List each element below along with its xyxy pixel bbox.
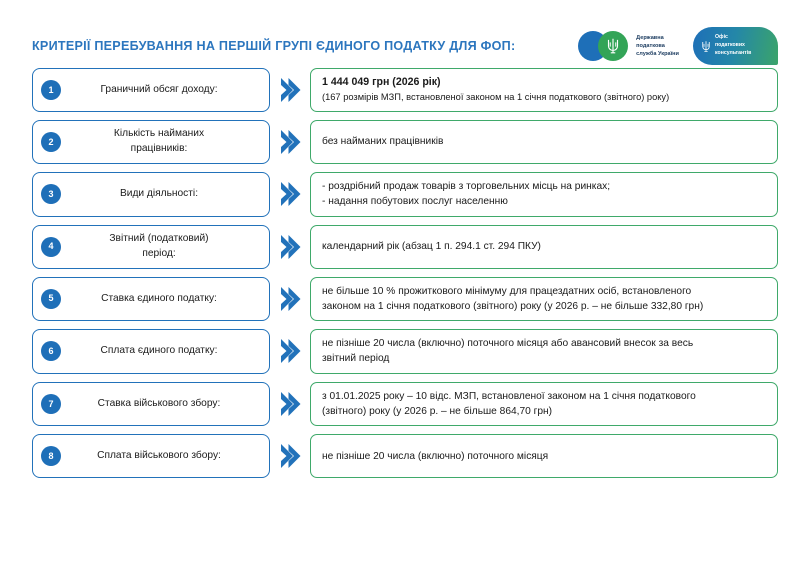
chevron-right-icon <box>279 286 301 312</box>
chevron-right-icon <box>279 234 301 260</box>
arrow-connector <box>270 434 310 478</box>
criterion-box-5[interactable]: 5Ставка єдиного податку: <box>32 277 270 322</box>
criteria-row: 4Звітний (податковий) період:календарний… <box>32 225 778 269</box>
arrow-connector <box>270 120 310 164</box>
chevron-right-icon <box>279 77 301 103</box>
criteria-row: 1Граничний обсяг доходу:1 444 049 грн (2… <box>32 68 778 112</box>
arrow-connector <box>270 172 310 217</box>
arrow-connector <box>270 382 310 427</box>
criterion-number-badge: 2 <box>41 132 61 152</box>
value-box-2[interactable]: без найманих працівників <box>310 120 778 164</box>
trident-icon <box>701 40 711 53</box>
criterion-label: Види діяльності: <box>61 187 259 202</box>
chevron-right-icon <box>279 443 301 469</box>
criterion-number-badge: 6 <box>41 341 61 361</box>
header: КРИТЕРІЇ ПЕРЕБУВАННЯ НА ПЕРШІЙ ГРУПІ ЄДИ… <box>0 0 800 66</box>
criterion-label: Граничний обсяг доходу: <box>61 83 259 98</box>
criterion-label: Кількість найманих працівників: <box>61 127 259 157</box>
arrow-connector <box>270 329 310 374</box>
criteria-row: 8Сплата військового збору:не пізніше 20 … <box>32 434 778 478</box>
tax-consultants-office-logo: Офіс податкових консультантів <box>693 27 778 65</box>
criterion-label: Звітний (податковий) період: <box>61 232 259 262</box>
value-box-3[interactable]: - роздрібний продаж товарів з торговельн… <box>310 172 778 217</box>
criterion-number-badge: 7 <box>41 394 61 414</box>
logo-group: Державна податкова служба України Офіс п… <box>578 27 778 65</box>
criterion-box-7[interactable]: 7Ставка військового збору: <box>32 382 270 427</box>
criterion-number-badge: 3 <box>41 184 61 204</box>
chevron-right-icon <box>279 129 301 155</box>
criterion-label: Ставка військового збору: <box>61 397 259 412</box>
value-line: - надання побутових послуг населенню <box>322 194 766 209</box>
criteria-row: 7Ставка військового збору:з 01.01.2025 р… <box>32 382 778 427</box>
infographic-page: КРИТЕРІЇ ПЕРЕБУВАННЯ НА ПЕРШІЙ ГРУПІ ЄДИ… <box>0 0 800 565</box>
criterion-number-badge: 8 <box>41 446 61 466</box>
value-box-7[interactable]: з 01.01.2025 року – 10 відс. МЗП, встано… <box>310 382 778 427</box>
value-line: звітний період <box>322 351 766 366</box>
criterion-box-1[interactable]: 1Граничний обсяг доходу: <box>32 68 270 112</box>
arrow-connector <box>270 277 310 322</box>
arrow-connector <box>270 225 310 269</box>
value-line: календарний рік (абзац 1 п. 294.1 ст. 29… <box>322 239 766 254</box>
state-tax-service-logo: Державна податкова служба України <box>578 31 679 61</box>
criterion-number-badge: 1 <box>41 80 61 100</box>
criterion-box-6[interactable]: 6Сплата єдиного податку: <box>32 329 270 374</box>
logo-circles <box>578 31 630 61</box>
value-line: - роздрібний продаж товарів з торговельн… <box>322 179 766 194</box>
value-line: без найманих працівників <box>322 134 766 149</box>
chevron-right-icon <box>279 391 301 417</box>
criterion-label: Сплата військового збору: <box>61 449 259 464</box>
chevron-right-icon <box>279 338 301 364</box>
criteria-row: 6Сплата єдиного податку:не пізніше 20 чи… <box>32 329 778 374</box>
value-box-5[interactable]: не більше 10 % прожиткового мінімуму для… <box>310 277 778 322</box>
chevron-right-icon <box>279 181 301 207</box>
criterion-box-4[interactable]: 4Звітний (податковий) період: <box>32 225 270 269</box>
criterion-label: Ставка єдиного податку: <box>61 292 259 307</box>
criterion-label: Сплата єдиного податку: <box>61 344 259 359</box>
trident-icon <box>604 37 622 55</box>
criteria-list: 1Граничний обсяг доходу:1 444 049 грн (2… <box>0 66 800 478</box>
value-box-4[interactable]: календарний рік (абзац 1 п. 294.1 ст. 29… <box>310 225 778 269</box>
state-tax-service-logo-text: Державна податкова служба України <box>636 34 679 58</box>
criterion-number-badge: 4 <box>41 237 61 257</box>
criteria-row: 5Ставка єдиного податку:не більше 10 % п… <box>32 277 778 322</box>
value-line: з 01.01.2025 року – 10 відс. МЗП, встано… <box>322 389 766 404</box>
page-title: КРИТЕРІЇ ПЕРЕБУВАННЯ НА ПЕРШІЙ ГРУПІ ЄДИ… <box>32 39 515 53</box>
criteria-row: 3Види діяльності:- роздрібний продаж тов… <box>32 172 778 217</box>
value-box-8[interactable]: не пізніше 20 числа (включно) поточного … <box>310 434 778 478</box>
value-line: законом на 1 січня податкового (звітного… <box>322 299 766 314</box>
value-line: не пізніше 20 числа (включно) поточного … <box>322 449 766 464</box>
criterion-box-3[interactable]: 3Види діяльності: <box>32 172 270 217</box>
value-box-1[interactable]: 1 444 049 грн (2026 рік)(167 розмірів МЗ… <box>310 68 778 112</box>
value-line: не більше 10 % прожиткового мінімуму для… <box>322 284 766 299</box>
criterion-box-2[interactable]: 2Кількість найманих працівників: <box>32 120 270 164</box>
value-line: (звітного) року (у 2026 р. – не більше 8… <box>322 404 766 419</box>
value-box-6[interactable]: не пізніше 20 числа (включно) поточного … <box>310 329 778 374</box>
criterion-box-8[interactable]: 8Сплата військового збору: <box>32 434 270 478</box>
value-line: 1 444 049 грн (2026 рік) <box>322 75 766 91</box>
criteria-row: 2Кількість найманих працівників:без найм… <box>32 120 778 164</box>
arrow-connector <box>270 68 310 112</box>
criterion-number-badge: 5 <box>41 289 61 309</box>
value-line: (167 розмірів МЗП, встановленої законом … <box>322 91 766 105</box>
value-line: не пізніше 20 числа (включно) поточного … <box>322 336 766 351</box>
tax-consultants-office-logo-text: Офіс податкових консультантів <box>715 34 751 57</box>
